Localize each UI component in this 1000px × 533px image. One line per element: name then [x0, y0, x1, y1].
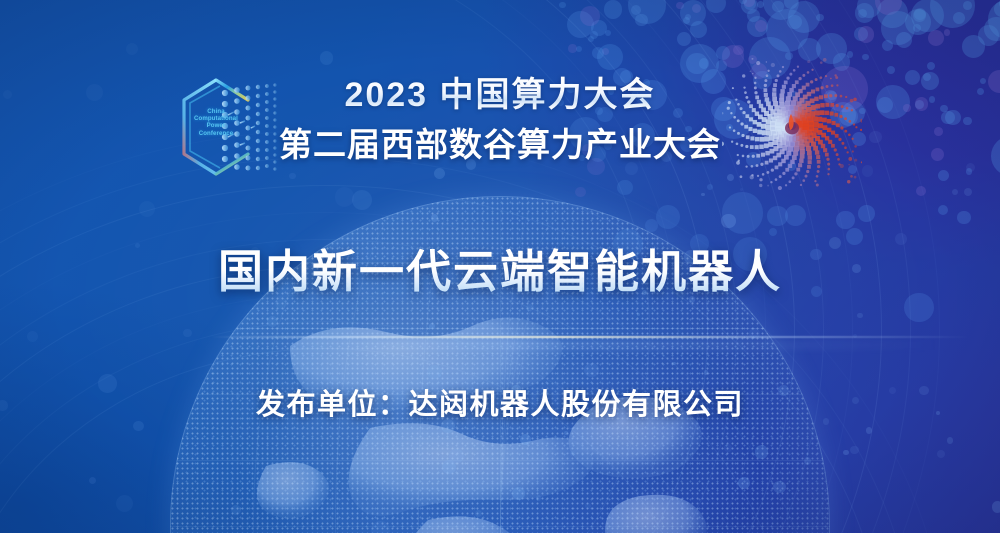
presentation-slide: China Computational Power Conference 202… — [0, 0, 1000, 533]
publisher-line: 发布单位：达闼机器人股份有限公司 — [0, 385, 1000, 425]
main-title: 国内新一代云端智能机器人 — [0, 243, 1000, 301]
conference-title-line2: 第二届西部数谷算力产业大会 — [0, 124, 1000, 166]
header-block: 2023 中国算力大会 第二届西部数谷算力产业大会 — [0, 74, 1000, 166]
conference-title-line1: 2023 中国算力大会 — [0, 74, 1000, 116]
